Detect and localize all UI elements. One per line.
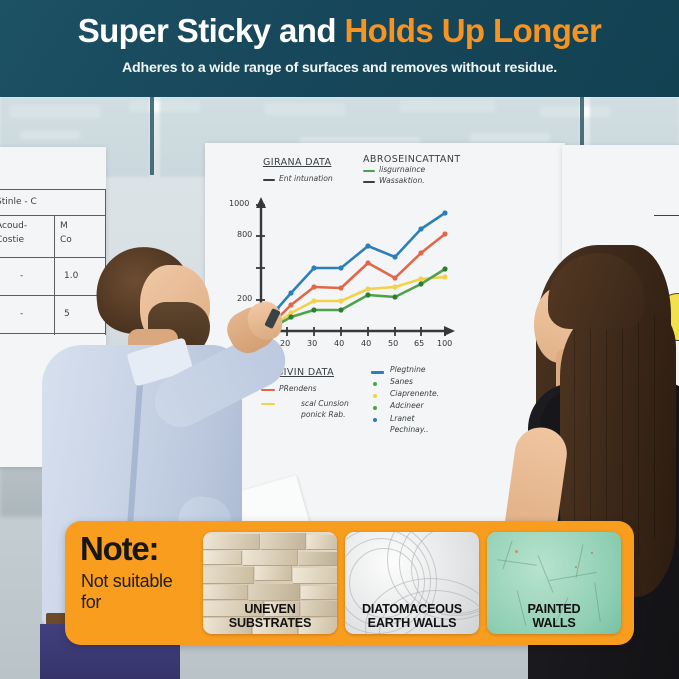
note-item-caption: UNEVEN SUBSTRATES xyxy=(203,602,337,630)
note-item-diatomaceous-earth-walls: DIATOMACEOUS EARTH WALLS xyxy=(345,532,479,634)
page-subtitle: Adheres to a wide range of surfaces and … xyxy=(0,60,679,76)
title-part-white: Super Sticky and xyxy=(78,12,345,49)
table-column-label: M xyxy=(60,221,68,231)
x-tick-label: 65 xyxy=(414,339,424,348)
legend-swatch-sanes xyxy=(373,382,377,386)
legend-swatch-cunsion xyxy=(261,403,275,405)
chart-title: GIRANA DATA xyxy=(263,157,331,168)
legend-swatch-lranet xyxy=(373,418,377,422)
window-mullion xyxy=(150,97,154,175)
sketch-line xyxy=(654,215,679,216)
legend-right-item-label: Ciaprenente. xyxy=(390,389,439,398)
table-cell: - xyxy=(20,309,23,319)
product-feature-image: Stinle - C Acoud- Costie M Co - 1.0 - 5 … xyxy=(0,0,679,679)
page-title: Super Sticky and Holds Up Longer xyxy=(0,11,679,51)
legend-top-item-label: Wassaktion. xyxy=(379,176,425,185)
x-tick-label: 40 xyxy=(334,339,344,348)
y-tick-label: 1000 xyxy=(229,199,249,208)
legend-swatch xyxy=(263,179,275,181)
legend-right-item-label: Adcineer xyxy=(390,401,424,410)
note-item-uneven-substrates: UNEVEN SUBSTRATES xyxy=(203,532,337,634)
note-banner: Note: Not suitable for xyxy=(65,521,634,645)
legend-top-item-label: lisgurnaince xyxy=(379,165,425,174)
legend-swatch-lisgurnaince xyxy=(363,170,375,172)
note-subtitle: Not suitable for xyxy=(81,571,176,613)
hand-drawn-chart: GIRANA DATA Ent intunation ABROSEINCATTA… xyxy=(215,149,485,449)
y-tick-label: 800 xyxy=(237,230,252,239)
legend-swatch-wassaktion xyxy=(363,181,375,183)
legend-top-title: ABROSEINCATTANT xyxy=(363,154,461,165)
title-part-accent: Holds Up Longer xyxy=(344,12,601,49)
legend-bottom-item-label: PRendens xyxy=(279,384,317,393)
table-cell: - xyxy=(20,271,23,281)
legend-swatch-adcineer xyxy=(373,406,377,410)
note-item-caption: PAINTED WALLS xyxy=(487,602,621,630)
chart-subtitle: Ent intunation xyxy=(279,174,333,183)
legend-right-item-label: Plegtnine xyxy=(390,365,426,374)
x-tick-label: 30 xyxy=(307,339,317,348)
note-item-caption: DIATOMACEOUS EARTH WALLS xyxy=(345,602,479,630)
table-cell: 1.0 xyxy=(64,271,78,281)
legend-right-item-label: Sanes xyxy=(390,377,413,386)
table-header-label: Stinle - C xyxy=(0,197,37,207)
legend-swatch-plegtnine xyxy=(371,371,384,374)
table-column-label: Acoud- xyxy=(0,221,27,231)
note-item-painted-walls: PAINTED WALLS xyxy=(487,532,621,634)
x-tick-label: 40 xyxy=(361,339,371,348)
x-tick-label: 50 xyxy=(388,339,398,348)
legend-right-item-label: Lranet Pechinay.. xyxy=(390,413,450,435)
header-banner: Super Sticky and Holds Up Longer Adheres… xyxy=(0,0,679,97)
note-title: Note: xyxy=(80,532,158,566)
x-tick-label: 100 xyxy=(437,339,452,348)
legend-swatch-ciaprenente xyxy=(373,394,377,398)
y-tick-label: 200 xyxy=(237,294,252,303)
table-column-label: Co xyxy=(60,235,72,245)
legend-bottom-item-label: scal Cunsion ponick Rab. xyxy=(301,398,371,420)
legend-swatch-prendens xyxy=(261,389,275,391)
table-cell: 5 xyxy=(64,309,70,319)
table-column-label: Costie xyxy=(0,235,24,245)
